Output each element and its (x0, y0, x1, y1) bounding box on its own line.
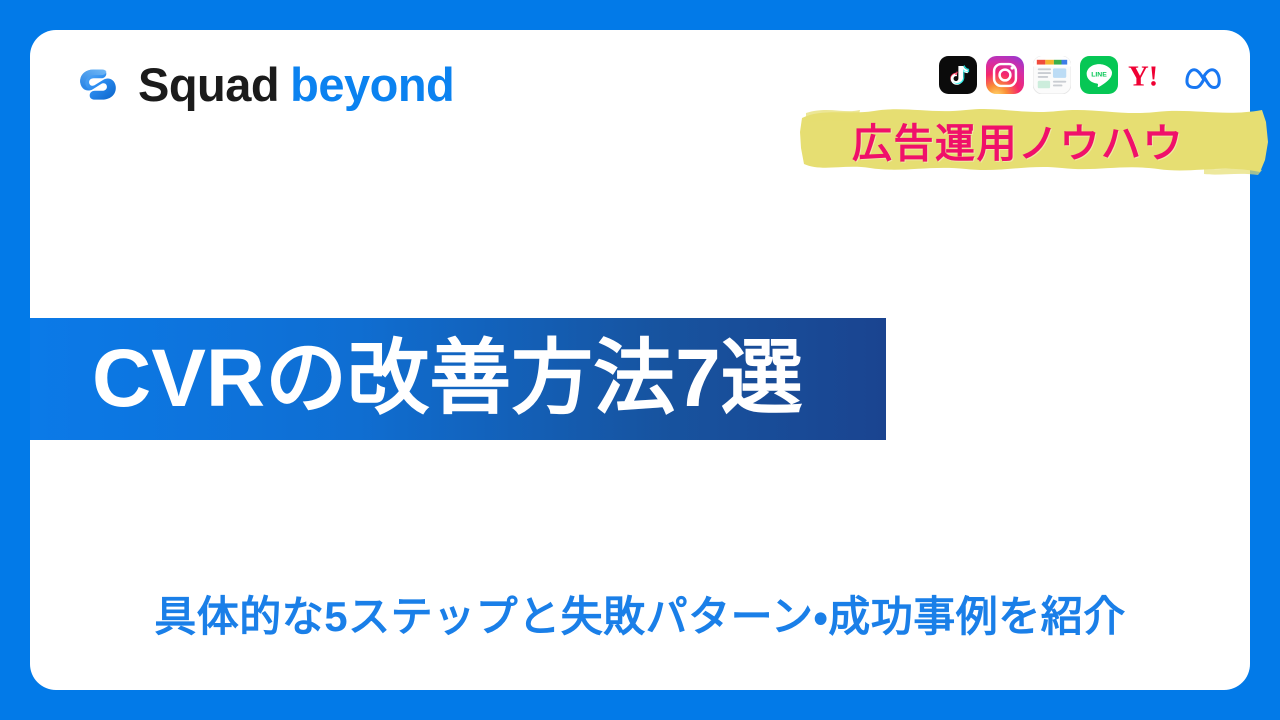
brand-wordmark: Squad beyond (138, 61, 454, 108)
brand-name-secondary: beyond (290, 61, 454, 108)
instagram-icon (986, 56, 1024, 94)
yahoo-icon: Y! (1127, 56, 1173, 94)
page-title: CVRの改善方法7選 (92, 338, 803, 420)
line-icon: LINE (1080, 56, 1118, 94)
tiktok-icon (939, 56, 977, 94)
social-platform-icons: LINE Y! (939, 56, 1228, 94)
category-badge-label: 広告運用ノウハウ (800, 102, 1270, 178)
brand-name-primary: Squad (138, 61, 279, 108)
svg-text:LINE: LINE (1091, 71, 1107, 78)
page-subtitle: 具体的な5ステップと失敗パターン・成功事例を紹介 (30, 583, 1250, 644)
meta-icon (1182, 56, 1228, 94)
smartnews-icon (1033, 56, 1071, 94)
squad-beyond-logo-mark-icon (72, 58, 124, 110)
category-badge: 広告運用ノウハウ (800, 102, 1270, 178)
title-band: CVRの改善方法7選 (30, 318, 886, 440)
svg-text:Y!: Y! (1128, 61, 1158, 92)
content-card: Squad beyond (30, 30, 1250, 690)
brand-logo: Squad beyond (72, 58, 454, 110)
